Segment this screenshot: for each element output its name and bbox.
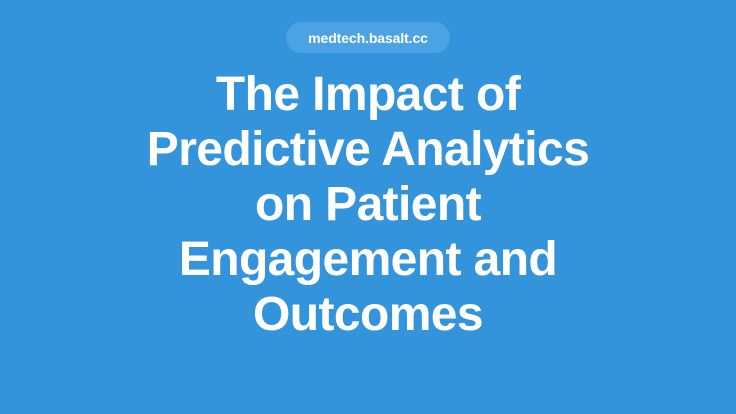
site-domain-badge: medtech.basalt.cc bbox=[286, 22, 450, 53]
title-line-2: Predictive Analytics bbox=[58, 122, 678, 177]
title-line-3: on Patient bbox=[58, 177, 678, 232]
site-domain-badge-label: medtech.basalt.cc bbox=[308, 31, 428, 45]
page-title: The Impact of Predictive Analytics on Pa… bbox=[58, 67, 678, 342]
title-line-1: The Impact of bbox=[58, 67, 678, 122]
poster-canvas: medtech.basalt.cc The Impact of Predicti… bbox=[0, 0, 736, 414]
title-line-4: Engagement and bbox=[58, 232, 678, 287]
title-line-5: Outcomes bbox=[58, 287, 678, 342]
